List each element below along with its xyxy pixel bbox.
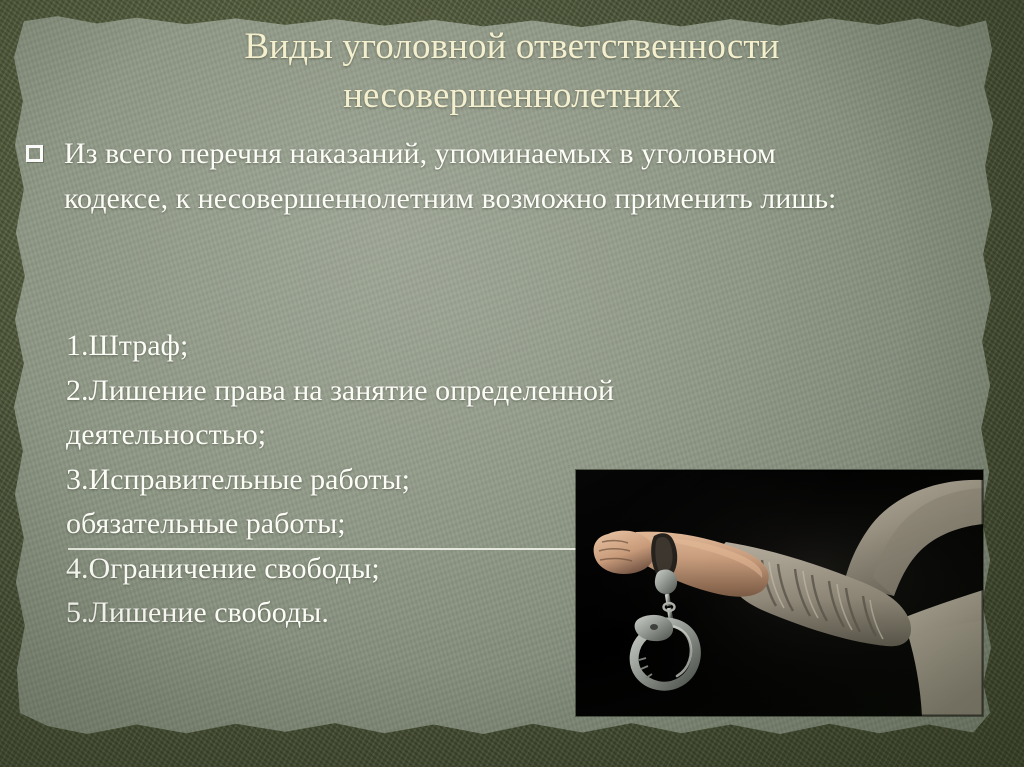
- slide-title: Виды уголовной ответственности несоверше…: [70, 22, 954, 120]
- horizontal-rule: [68, 548, 576, 550]
- intro-paragraph-block: Из всего перечня наказаний, упоминаемых …: [22, 131, 862, 221]
- bulleted-paragraph: Из всего перечня наказаний, упоминаемых …: [22, 131, 862, 221]
- slide-title-line-1: Виды уголовной ответственности: [70, 22, 954, 71]
- handcuffed-arm-photo: [576, 470, 983, 716]
- hollow-square-bullet-icon: [26, 145, 43, 162]
- list-line-3: деятельностью;: [66, 413, 826, 458]
- list-line-2: 2.Лишение права на занятие определенной: [66, 369, 826, 414]
- presentation-slide: Виды уголовной ответственности несоверше…: [0, 0, 1024, 767]
- slide-title-line-2: несовершеннолетних: [70, 71, 954, 120]
- list-line-1: 1.Штраф;: [66, 324, 826, 369]
- intro-paragraph-text: Из всего перечня наказаний, упоминаемых …: [64, 131, 862, 221]
